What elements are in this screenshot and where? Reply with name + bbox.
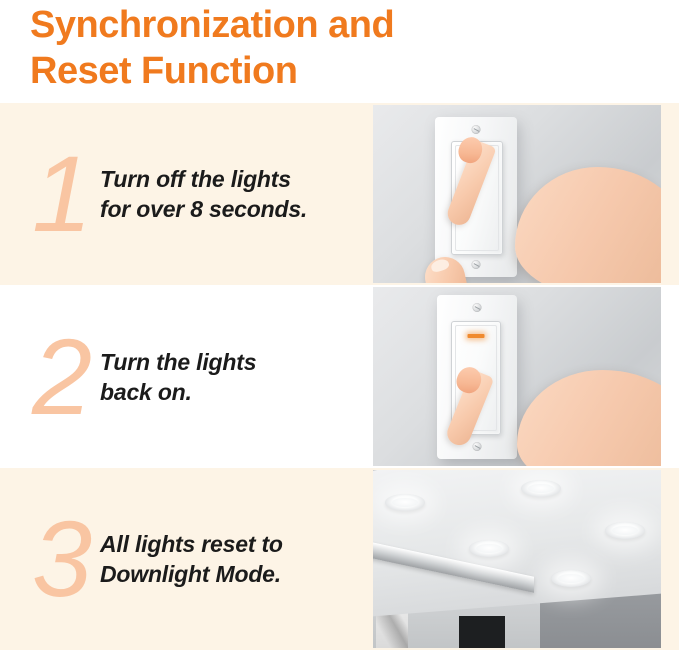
step-2-number: 2 [22, 323, 102, 431]
step-1-number: 1 [22, 140, 102, 248]
switch-led-indicator-icon [468, 334, 485, 338]
wall-plate-screw-top-icon [473, 303, 482, 312]
wall-plate-screw-bottom-icon [472, 260, 481, 269]
infographic-page: Synchronization and Reset Function 1 Tur… [0, 0, 679, 650]
step-row-2: 2 Turn the lights back on. [0, 285, 679, 468]
step-3-caption-line-1: All lights reset to [100, 529, 362, 559]
step-3-caption-line-2: Downlight Mode. [100, 559, 362, 589]
wall-plate-screw-top-icon [472, 125, 481, 134]
step-row-3: 3 All lights reset to Downlight Mode. [0, 468, 679, 650]
step-3-caption: All lights reset to Downlight Mode. [100, 529, 362, 589]
step-2-text-column: 2 Turn the lights back on. [0, 285, 373, 468]
page-title-line-1: Synchronization and [30, 2, 630, 48]
step-3-photo-column [373, 468, 679, 650]
downlight-4-icon [469, 540, 509, 557]
photo-hand-pressing-top-of-light-switch [373, 105, 661, 283]
ceiling-scene [373, 470, 661, 648]
step-row-1: 1 Turn off the lights for over 8 seconds… [0, 103, 679, 285]
page-title: Synchronization and Reset Function [30, 2, 630, 94]
ceiling-surface [373, 470, 661, 618]
step-2-photo-column [373, 285, 679, 468]
step-1-text-column: 1 Turn off the lights for over 8 seconds… [0, 103, 373, 285]
photo-ceiling-with-five-recessed-downlights [373, 470, 661, 648]
step-2-caption: Turn the lights back on. [100, 347, 362, 407]
page-title-line-2: Reset Function [30, 48, 630, 94]
step-3-number: 3 [22, 505, 102, 613]
photo-hand-pressing-bottom-of-light-switch [373, 287, 661, 466]
downlight-3-icon [605, 522, 645, 539]
step-1-caption-line-1: Turn off the lights [100, 164, 362, 194]
downlight-1-icon [385, 494, 425, 511]
step-1-caption: Turn off the lights for over 8 seconds. [100, 164, 362, 224]
step-2-caption-line-2: back on. [100, 377, 362, 407]
downlight-5-icon [551, 570, 591, 587]
doorway-opening [459, 616, 505, 648]
step-2-caption-line-1: Turn the lights [100, 347, 362, 377]
wall-plate-screw-bottom-icon [473, 442, 482, 451]
step-1-photo-column [373, 103, 679, 285]
step-1-caption-line-2: for over 8 seconds. [100, 194, 362, 224]
step-3-text-column: 3 All lights reset to Downlight Mode. [0, 468, 373, 650]
downlight-2-icon [521, 480, 561, 497]
